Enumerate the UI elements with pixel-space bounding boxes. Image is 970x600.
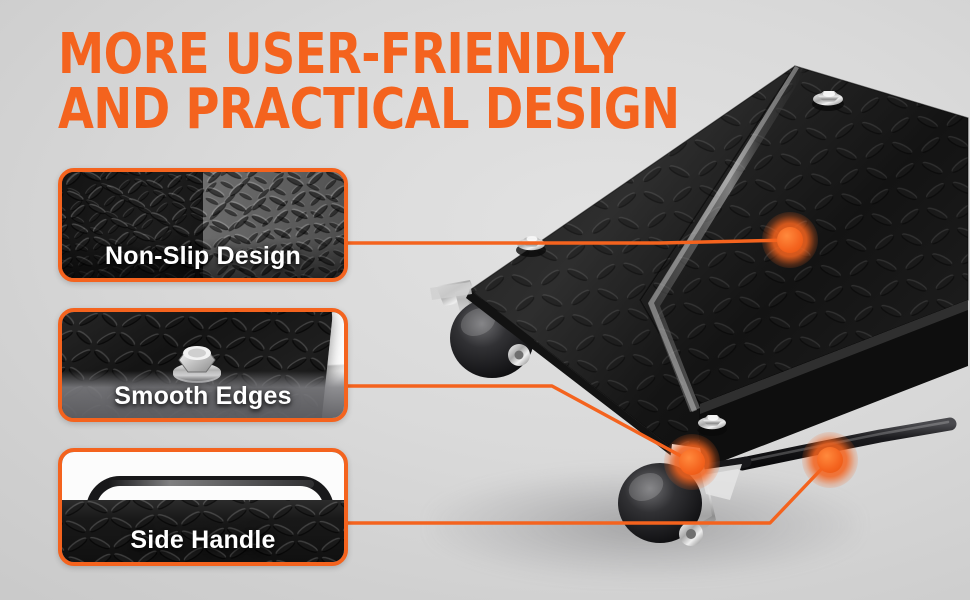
connector-side-handle — [348, 460, 830, 523]
feature-card-label: Non-Slip Design — [62, 242, 344, 271]
feature-card-non-slip[interactable]: Non-Slip Design — [58, 168, 348, 282]
hotspot-smooth-edges-core[interactable] — [679, 449, 705, 475]
hotspot-side-handle-core[interactable] — [817, 447, 843, 473]
hotspot-non-slip-core[interactable] — [777, 227, 803, 253]
feature-card-smooth-edges[interactable]: Smooth Edges — [58, 308, 348, 422]
feature-card-label: Side Handle — [62, 526, 344, 555]
page-title: MORE USER-FRIENDLY AND PRACTICAL DESIGN — [58, 28, 680, 138]
connector-non-slip — [348, 240, 790, 243]
banner-stage: MORE USER-FRIENDLY AND PRACTICAL DESIGN — [0, 0, 970, 600]
feature-card-label: Smooth Edges — [62, 382, 344, 411]
connector-smooth-edges — [348, 386, 692, 462]
feature-card-side-handle[interactable]: Side Handle — [58, 448, 348, 566]
